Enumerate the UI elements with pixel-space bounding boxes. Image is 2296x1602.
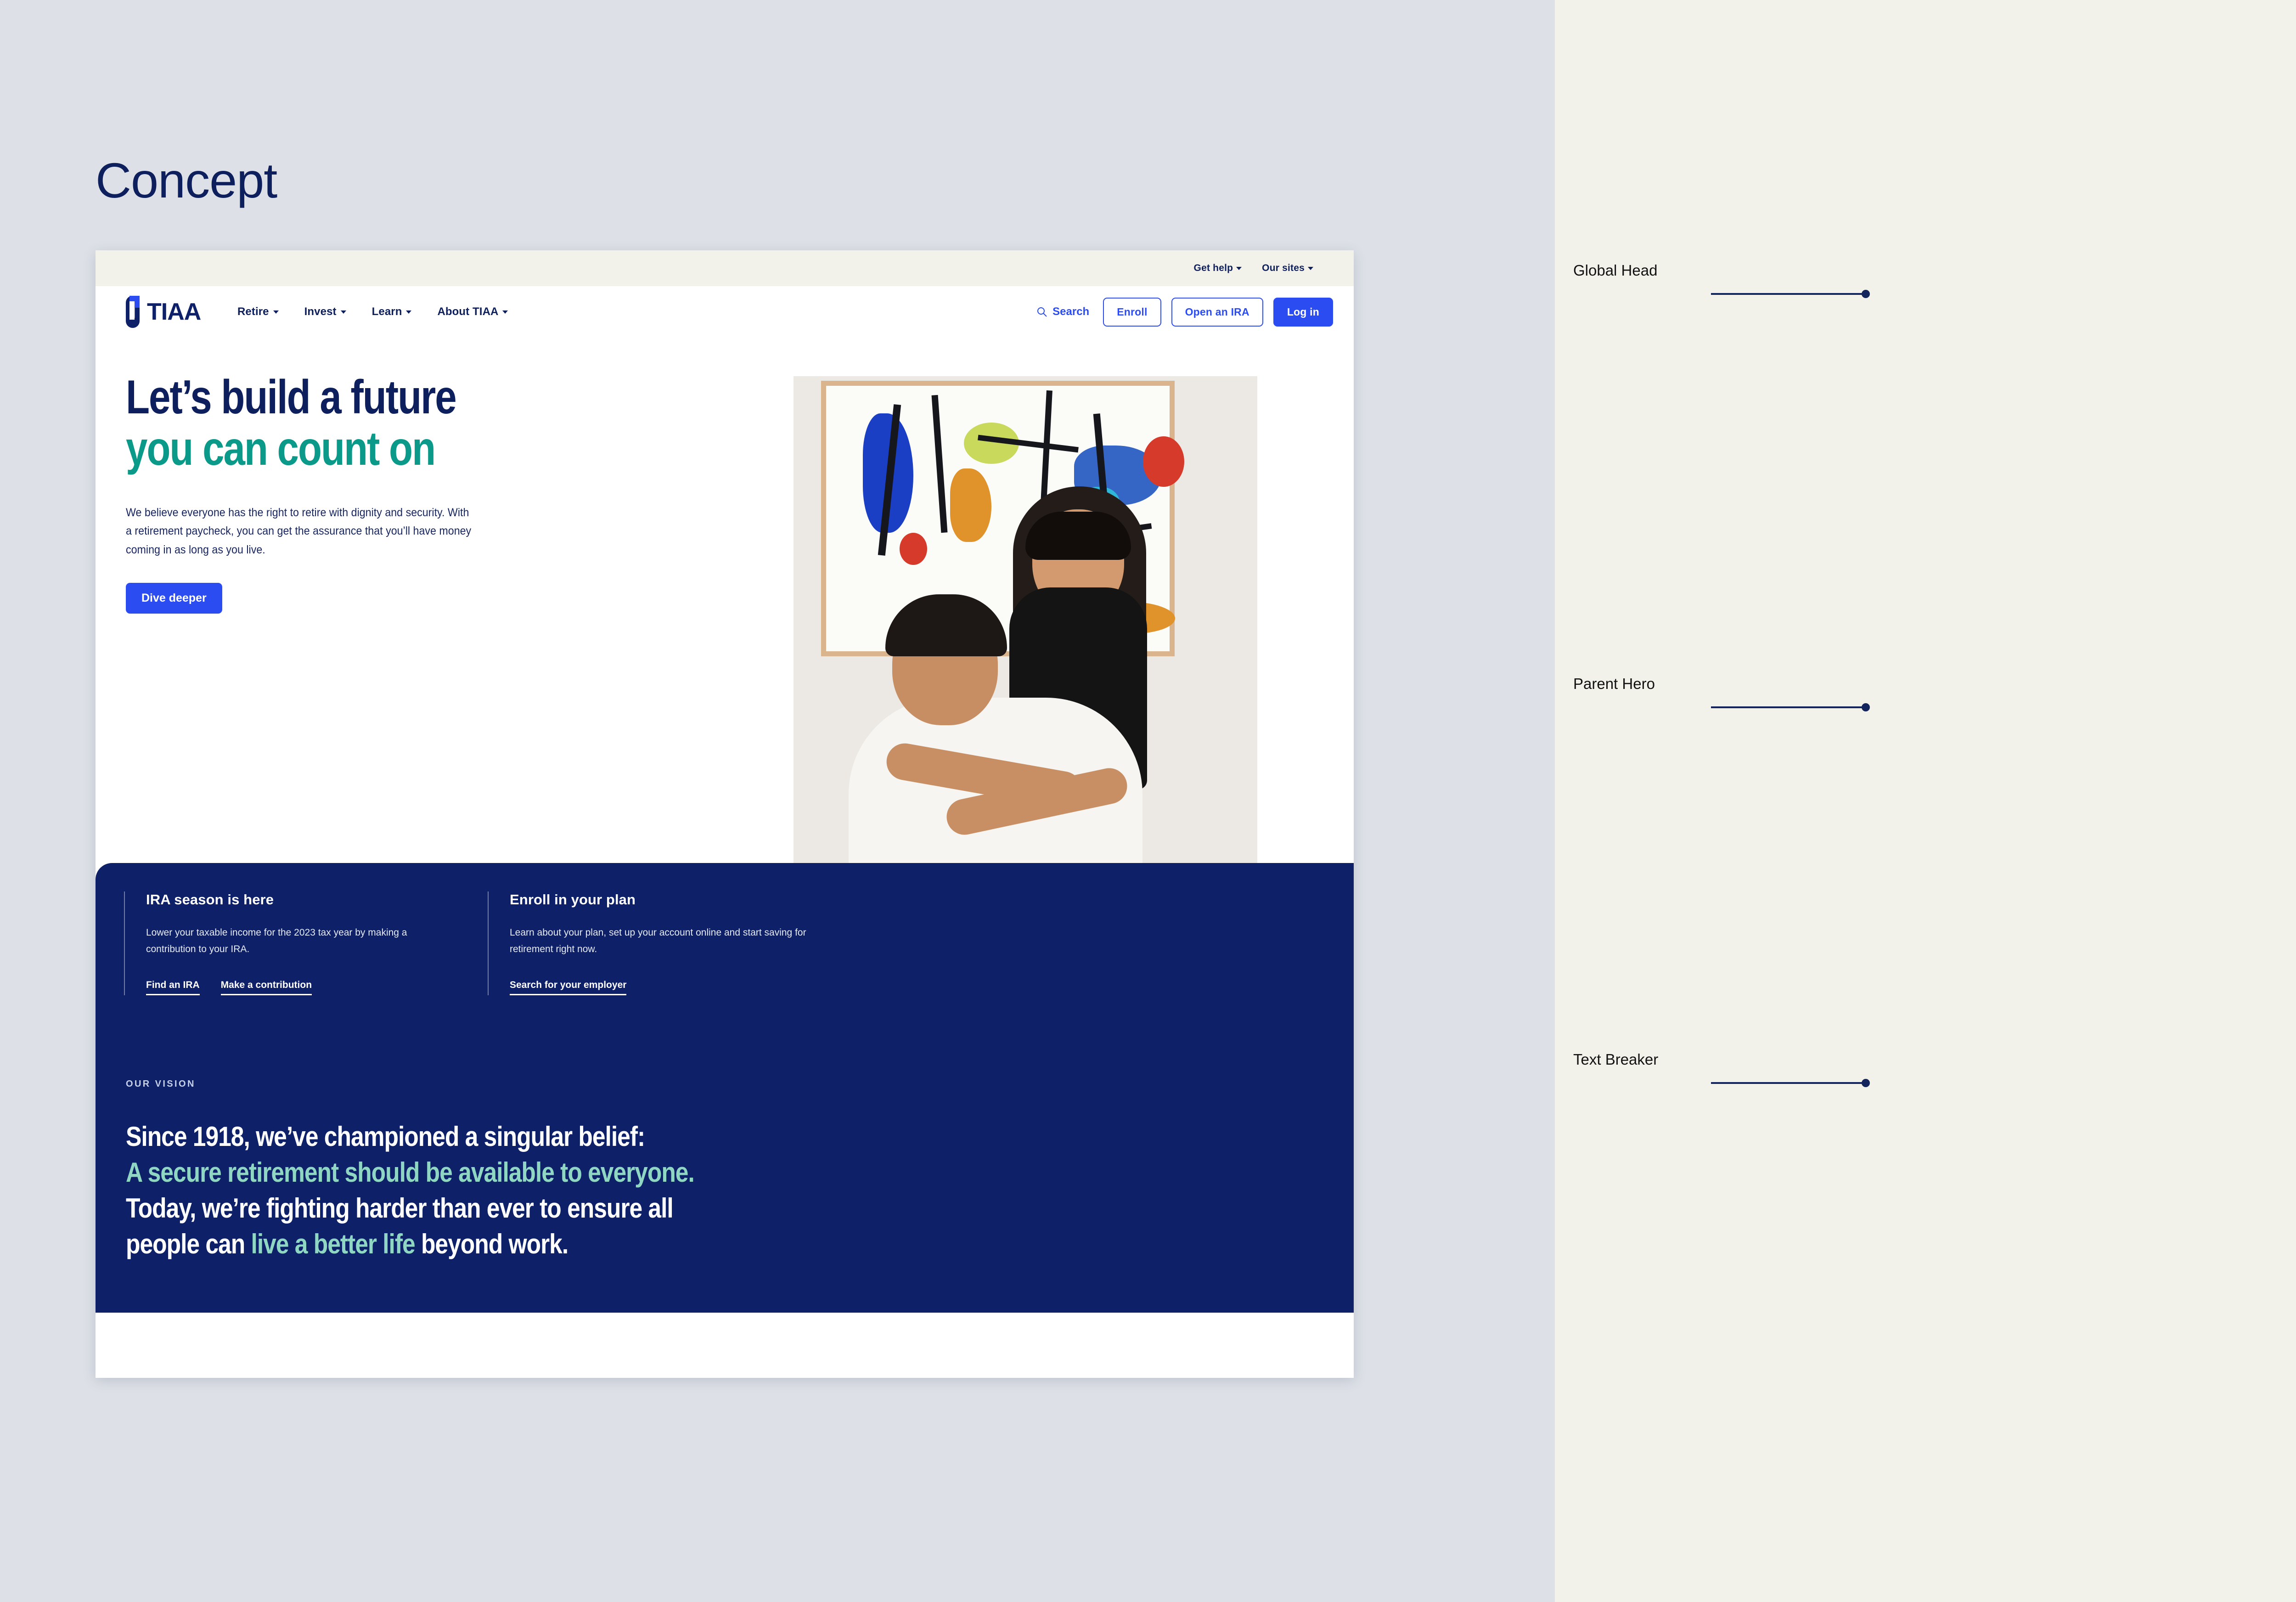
vision-line-3: Today, we’re fighting harder than ever t… (126, 1190, 1182, 1226)
hero-headline-line2: you can count on (126, 423, 673, 474)
hero-photo-couple (793, 376, 1257, 863)
annotation-parent-hero: Parent Hero (1573, 675, 1655, 693)
search-label: Search (1052, 305, 1089, 318)
search-button[interactable]: Search (1036, 305, 1089, 318)
utility-bar: Get help Our sites (96, 250, 1354, 286)
comparison-stage: Concept Get help Our sites (0, 0, 2296, 1602)
tiaa-wordmark-icon: TIAA (147, 298, 212, 326)
nav-item-about-tiaa[interactable]: About TIAA (437, 305, 508, 318)
info-card-column: IRA season is here Lower your taxable in… (124, 891, 459, 995)
annotation-global-head: Global Head (1573, 262, 1657, 279)
info-card-column: Enroll in your plan Learn about your pla… (488, 891, 809, 995)
annotation-leader-line (1711, 706, 1865, 708)
annotation-label: Parent Hero (1573, 675, 1655, 693)
annotation-endpoint-dot (1862, 703, 1870, 711)
info-card-body: Learn about your plan, set up your accou… (510, 925, 809, 958)
chevron-down-icon (1308, 267, 1313, 270)
nav-item-retire[interactable]: Retire (237, 305, 279, 318)
nav-item-label: Learn (372, 305, 402, 318)
info-card-heading: IRA season is here (146, 891, 459, 908)
hero-info-card: IRA season is here Lower your taxable in… (96, 863, 1354, 1035)
info-card-links: Search for your employer (510, 980, 809, 995)
woman-bangs (1025, 512, 1131, 560)
search-for-your-employer-link[interactable]: Search for your employer (510, 980, 626, 995)
nav-item-learn[interactable]: Learn (372, 305, 412, 318)
enroll-button[interactable]: Enroll (1103, 298, 1161, 327)
nav-actions: Search Enroll Open an IRA Log in (1036, 298, 1333, 327)
annotation-leader-line (1711, 1082, 1865, 1084)
art-shape (900, 533, 927, 565)
right-panel-patterns: Broken into patterns Global Head Parent … (1555, 0, 2296, 1602)
art-shape (950, 468, 991, 542)
annotation-label: Global Head (1573, 262, 1657, 279)
concept-mockup: Get help Our sites (96, 250, 1354, 1378)
hero-media (793, 338, 1345, 863)
annotation-text-breaker: Text Breaker (1573, 1051, 1658, 1068)
vision-line-1: Since 1918, we’ve championed a singular … (126, 1119, 1182, 1155)
annotation-endpoint-dot (1862, 1079, 1870, 1087)
info-card-links: Find an IRA Make a contribution (146, 980, 459, 995)
chevron-down-icon (273, 310, 279, 314)
search-icon (1036, 306, 1047, 317)
nav-item-label: Retire (237, 305, 269, 318)
nav-item-label: Invest (304, 305, 337, 318)
utility-link-our-sites[interactable]: Our sites (1262, 263, 1313, 274)
hero-body-text: We believe everyone has the right to ret… (126, 503, 472, 559)
annotation-endpoint-dot (1862, 290, 1870, 298)
utility-link-label: Our sites (1262, 263, 1305, 274)
utility-link-label: Get help (1194, 263, 1233, 274)
vision-line-4: people can live a better life beyond wor… (126, 1226, 1182, 1262)
breaker-eyebrow: OUR VISION (126, 1079, 1354, 1089)
left-panel-title: Concept (96, 152, 277, 209)
nav-item-invest[interactable]: Invest (304, 305, 346, 318)
vision-line-2: A secure retirement should be available … (126, 1155, 1182, 1190)
dive-deeper-button[interactable]: Dive deeper (126, 583, 222, 614)
chevron-down-icon (341, 310, 346, 314)
chevron-down-icon (1236, 267, 1242, 270)
tiaa-mark-icon (124, 295, 144, 329)
hero-copy: Let’s build a future you can count on We… (96, 338, 793, 863)
chevron-down-icon (502, 310, 508, 314)
svg-text:TIAA: TIAA (147, 299, 201, 325)
tiaa-logo[interactable]: TIAA (124, 295, 212, 329)
nav-item-label: About TIAA (437, 305, 498, 318)
open-an-ira-button[interactable]: Open an IRA (1171, 298, 1263, 327)
annotation-label: Text Breaker (1573, 1051, 1658, 1068)
hero-headline: Let’s build a future you can count on (126, 372, 673, 475)
left-panel-concept: Concept Get help Our sites (0, 0, 1555, 1602)
art-shape (1143, 436, 1184, 487)
text-breaker: OUR VISION Since 1918, we’ve championed … (96, 1035, 1354, 1313)
global-header-nav: TIAA Retire Invest Learn (96, 286, 1354, 338)
info-card-heading: Enroll in your plan (510, 891, 809, 908)
chevron-down-icon (406, 310, 411, 314)
find-an-ira-link[interactable]: Find an IRA (146, 980, 200, 995)
log-in-button[interactable]: Log in (1273, 298, 1333, 327)
hero-headline-line1: Let’s build a future (126, 371, 456, 424)
info-card-body: Lower your taxable income for the 2023 t… (146, 925, 459, 958)
art-stroke (932, 395, 948, 533)
nav-links: Retire Invest Learn About TIAA (237, 305, 508, 318)
breaker-vision-text: Since 1918, we’ve championed a singular … (126, 1119, 1182, 1262)
annotation-leader-line (1711, 293, 1865, 295)
utility-link-get-help[interactable]: Get help (1194, 263, 1242, 274)
make-a-contribution-link[interactable]: Make a contribution (221, 980, 312, 995)
parent-hero: Let’s build a future you can count on We… (96, 338, 1354, 863)
